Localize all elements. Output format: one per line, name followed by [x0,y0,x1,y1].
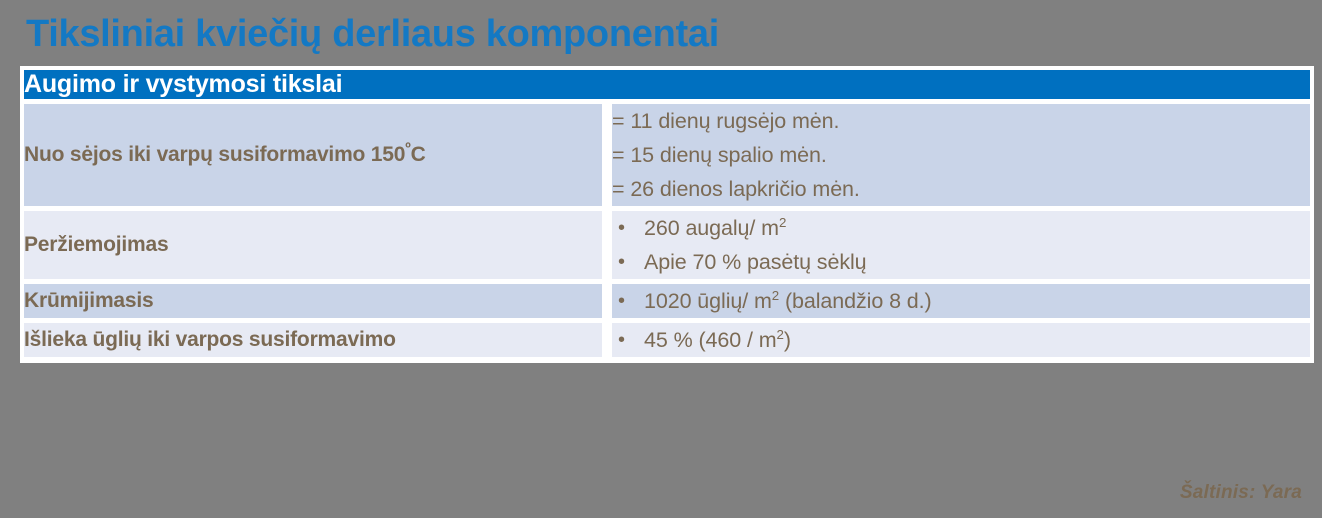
table-row: Krūmijimasis 1020 ūglių/ m2 (balandžio 8… [24,284,1310,318]
goals-table: Augimo ir vystymosi tikslai Nuo sėjos ik… [24,70,1310,357]
table-row: Išlieka ūglių iki varpos susiformavimo 4… [24,323,1310,357]
bullet-text-pre: 260 augalų/ m [644,216,779,240]
bullet-text-post: ) [784,328,791,352]
list-item: 260 augalų/ m2 [612,211,1310,245]
row-value-tillering: 1020 ūglių/ m2 (balandžio 8 d.) [612,284,1310,318]
row-value-surviving-tillers: 45 % (460 / m2) [612,323,1310,357]
list-item: Apie 70 % pasėtų sėklų [612,245,1310,279]
table-row: Peržiemojimas 260 augalų/ m2 Apie 70 % p… [24,211,1310,279]
superscript: 2 [772,288,779,303]
page-title: Tiksliniai kviečių derliaus komponentai [26,12,719,56]
bullet-text-pre: Apie 70 % pasėtų sėklų [644,250,867,274]
column-divider [602,323,612,357]
table-row: Nuo sėjos iki varpų susiformavimo 150ºC … [24,104,1310,206]
superscript: 2 [779,215,786,230]
bullet-list: 45 % (460 / m2) [612,323,1310,357]
row-label-tillering: Krūmijimasis [24,284,602,318]
column-divider [602,211,612,279]
bullet-text-pre: 45 % (460 / m [644,328,777,352]
column-divider [602,104,612,206]
row-label-surviving-tillers: Išlieka ūglių iki varpos susiformavimo [24,323,602,357]
row-label-overwintering: Peržiemojimas [24,211,602,279]
column-divider [602,284,612,318]
bullet-list: 260 augalų/ m2 Apie 70 % pasėtų sėklų [612,211,1310,279]
table-header-label: Augimo ir vystymosi tikslai [24,70,1310,99]
row-label-text-pre: Nuo sėjos iki varpų susiformavimo 150 [24,143,405,166]
list-item: 45 % (460 / m2) [612,323,1310,357]
bullet-list: 1020 ūglių/ m2 (balandžio 8 d.) [612,284,1310,318]
row-value-overwintering: 260 augalų/ m2 Apie 70 % pasėtų sėklų [612,211,1310,279]
row-label-text-post: C [411,143,426,166]
superscript: 2 [777,327,784,342]
bullet-text-post: (balandžio 8 d.) [779,289,931,313]
goals-table-container: Augimo ir vystymosi tikslai Nuo sėjos ik… [20,66,1314,363]
list-item: 1020 ūglių/ m2 (balandžio 8 d.) [612,284,1310,318]
table-header-row: Augimo ir vystymosi tikslai [24,70,1310,99]
value-line: = 11 dienų rugsėjo mėn. [612,104,1310,138]
row-value-sowing-to-ear: = 11 dienų rugsėjo mėn. = 15 dienų spali… [612,104,1310,206]
value-line: = 15 dienų spalio mėn. [612,138,1310,172]
value-line: = 26 dienos lapkričio mėn. [612,172,1310,206]
bullet-text-pre: 1020 ūglių/ m [644,289,772,313]
row-label-sowing-to-ear: Nuo sėjos iki varpų susiformavimo 150ºC [24,104,602,206]
source-attribution: Šaltinis: Yara [1180,482,1302,504]
